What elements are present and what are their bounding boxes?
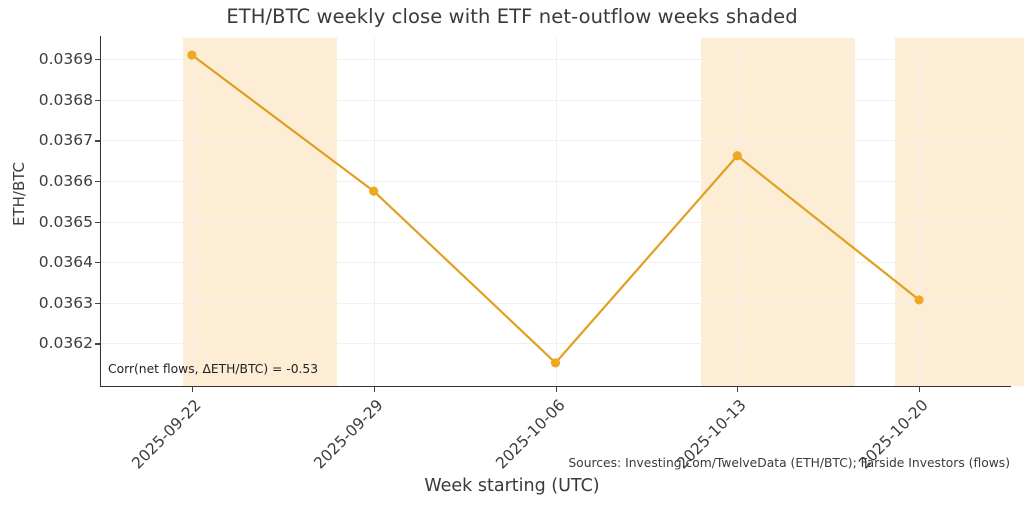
y-tick-label: 0.0362 [5, 334, 93, 352]
y-tick-mark [95, 100, 100, 101]
x-axis-label: Week starting (UTC) [0, 476, 1024, 496]
y-tick-mark [95, 343, 100, 344]
y-axis-label: ETH/BTC [10, 162, 28, 226]
series-line-chart [101, 38, 1010, 386]
data-point-marker [551, 358, 560, 367]
x-tick-mark [192, 387, 193, 392]
data-point-marker [733, 151, 742, 160]
plot-area [101, 38, 1010, 386]
y-tick-label: 0.0369 [5, 50, 93, 68]
y-axis-spine [100, 36, 101, 387]
y-tick-mark [95, 59, 100, 60]
y-tick-label: 0.0364 [5, 253, 93, 271]
y-tick-mark [95, 181, 100, 182]
source-note: Sources: Investing.com/TwelveData (ETH/B… [568, 456, 1010, 470]
series-line [192, 55, 919, 363]
correlation-annotation: Corr(net flows, ΔETH/BTC) = -0.53 [108, 362, 318, 376]
x-tick-mark [374, 387, 375, 392]
x-tick-mark [919, 387, 920, 392]
data-point-marker [187, 50, 196, 59]
y-tick-label: 0.0363 [5, 294, 93, 312]
x-tick-mark [556, 387, 557, 392]
chart-title: ETH/BTC weekly close with ETF net-outflo… [0, 5, 1024, 28]
chart-page: ETH/BTC weekly close with ETF net-outflo… [0, 0, 1024, 507]
y-tick-mark [95, 303, 100, 304]
data-point-marker [915, 295, 924, 304]
y-tick-mark [95, 262, 100, 263]
x-tick-mark [737, 387, 738, 392]
y-tick-mark [95, 140, 100, 141]
y-tick-label: 0.0368 [5, 91, 93, 109]
y-tick-mark [95, 222, 100, 223]
data-point-marker [369, 186, 378, 195]
y-tick-label: 0.0367 [5, 131, 93, 149]
